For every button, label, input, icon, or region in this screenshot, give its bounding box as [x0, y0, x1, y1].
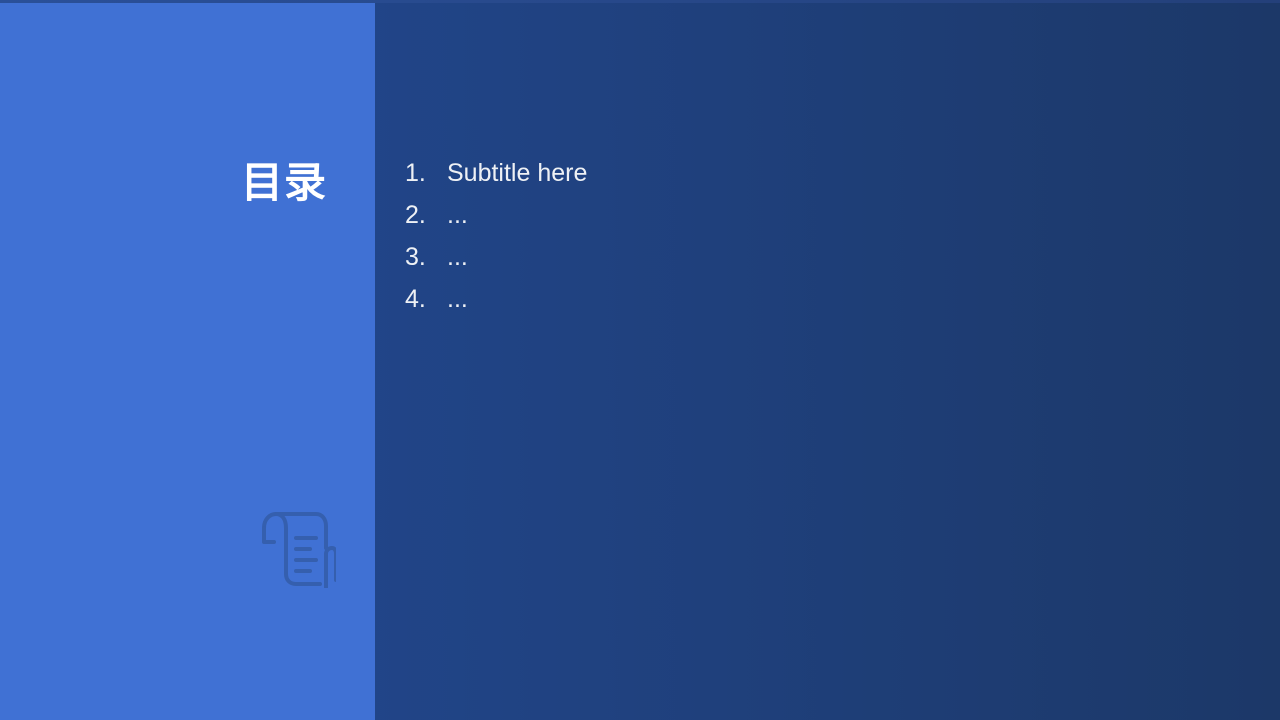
list-item-label: ... [447, 278, 468, 320]
page-title: 目录 [0, 158, 327, 208]
list-item-label: ... [447, 194, 468, 236]
list-item-number: 3. [405, 236, 447, 278]
list-item-number: 1. [405, 152, 447, 194]
list-item[interactable]: 2. ... [405, 194, 587, 236]
list-item[interactable]: 4. ... [405, 278, 587, 320]
list-item[interactable]: 1. Subtitle here [405, 152, 587, 194]
list-item-number: 2. [405, 194, 447, 236]
list-item[interactable]: 3. ... [405, 236, 587, 278]
list-item-number: 4. [405, 278, 447, 320]
list-item-label: Subtitle here [447, 152, 587, 194]
list-item-label: ... [447, 236, 468, 278]
table-of-contents-list: 1. Subtitle here 2. ... 3. ... 4. ... [405, 152, 587, 320]
scroll-document-icon [240, 504, 336, 588]
top-accent-strip [0, 0, 1280, 3]
left-panel: 目录 [0, 0, 375, 720]
right-panel: 1. Subtitle here 2. ... 3. ... 4. ... [375, 0, 1280, 720]
slide-root: 目录 1. Subtitle he [0, 0, 1280, 720]
